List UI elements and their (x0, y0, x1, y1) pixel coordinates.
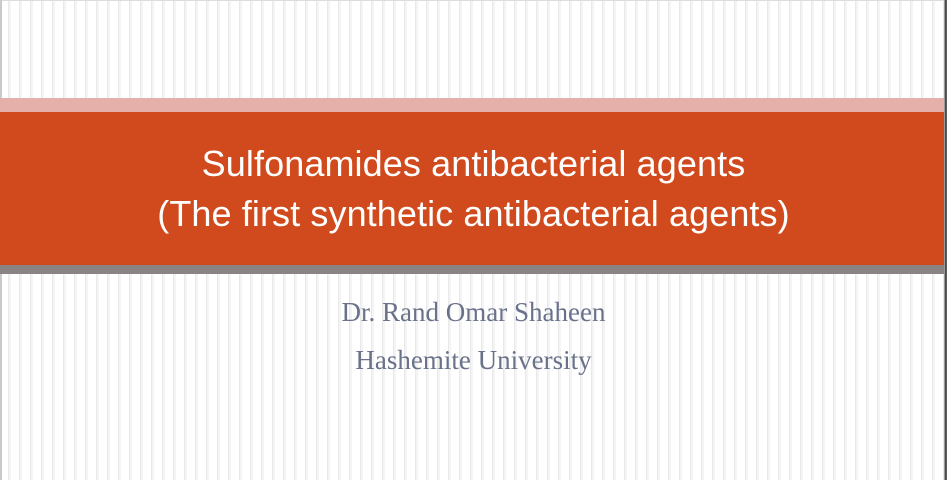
slide-title-line-1: Sulfonamides antibacterial agents (202, 139, 746, 189)
presentation-slide: Sulfonamides antibacterial agents (The f… (0, 0, 947, 480)
affiliation-name: Hashemite University (0, 336, 947, 384)
title-banner: Sulfonamides antibacterial agents (The f… (0, 112, 947, 265)
subtitle-block: Dr. Rand Omar Shaheen Hashemite Universi… (0, 288, 947, 384)
presenter-name: Dr. Rand Omar Shaheen (0, 288, 947, 336)
banner-bottom-accent-strip (0, 265, 947, 274)
banner-top-accent-strip (0, 98, 947, 112)
slide-top-edge (0, 0, 947, 1)
slide-title-line-2: (The first synthetic antibacterial agent… (157, 189, 789, 239)
